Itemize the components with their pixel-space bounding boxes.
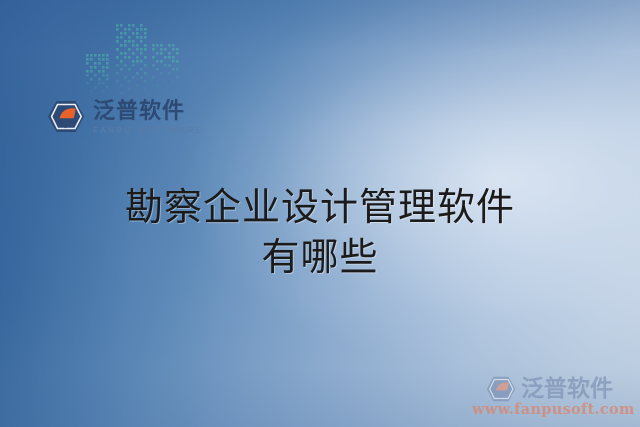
headline-line-1: 勘察企业设计管理软件: [0, 182, 640, 232]
watermark: 泛普软件 www.fanpusoft.com: [472, 376, 632, 419]
pixel-buildings-skyline-icon: [86, 14, 186, 96]
watermark-logo-row: 泛普软件: [472, 376, 632, 402]
brand-name-en: FANPU SOFTWARE: [93, 125, 204, 136]
watermark-url: www.fanpusoft.com: [472, 401, 632, 419]
brand-wordmark: 泛普软件 FANPU SOFTWARE: [93, 100, 204, 136]
fanpu-hexagon-logo-icon: [47, 100, 85, 133]
watermark-brand-name: 泛普软件: [521, 376, 613, 402]
promotional-banner: 泛普软件 FANPU SOFTWARE 勘察企业设计管理软件 有哪些 泛普软件 …: [0, 0, 640, 427]
fanpu-hexagon-logo-icon: [486, 376, 516, 402]
headline-line-2: 有哪些: [0, 232, 640, 282]
brand-logo-lockup: 泛普软件 FANPU SOFTWARE: [47, 100, 204, 136]
brand-name-cn: 泛普软件: [93, 100, 204, 124]
headline: 勘察企业设计管理软件 有哪些: [0, 182, 640, 282]
